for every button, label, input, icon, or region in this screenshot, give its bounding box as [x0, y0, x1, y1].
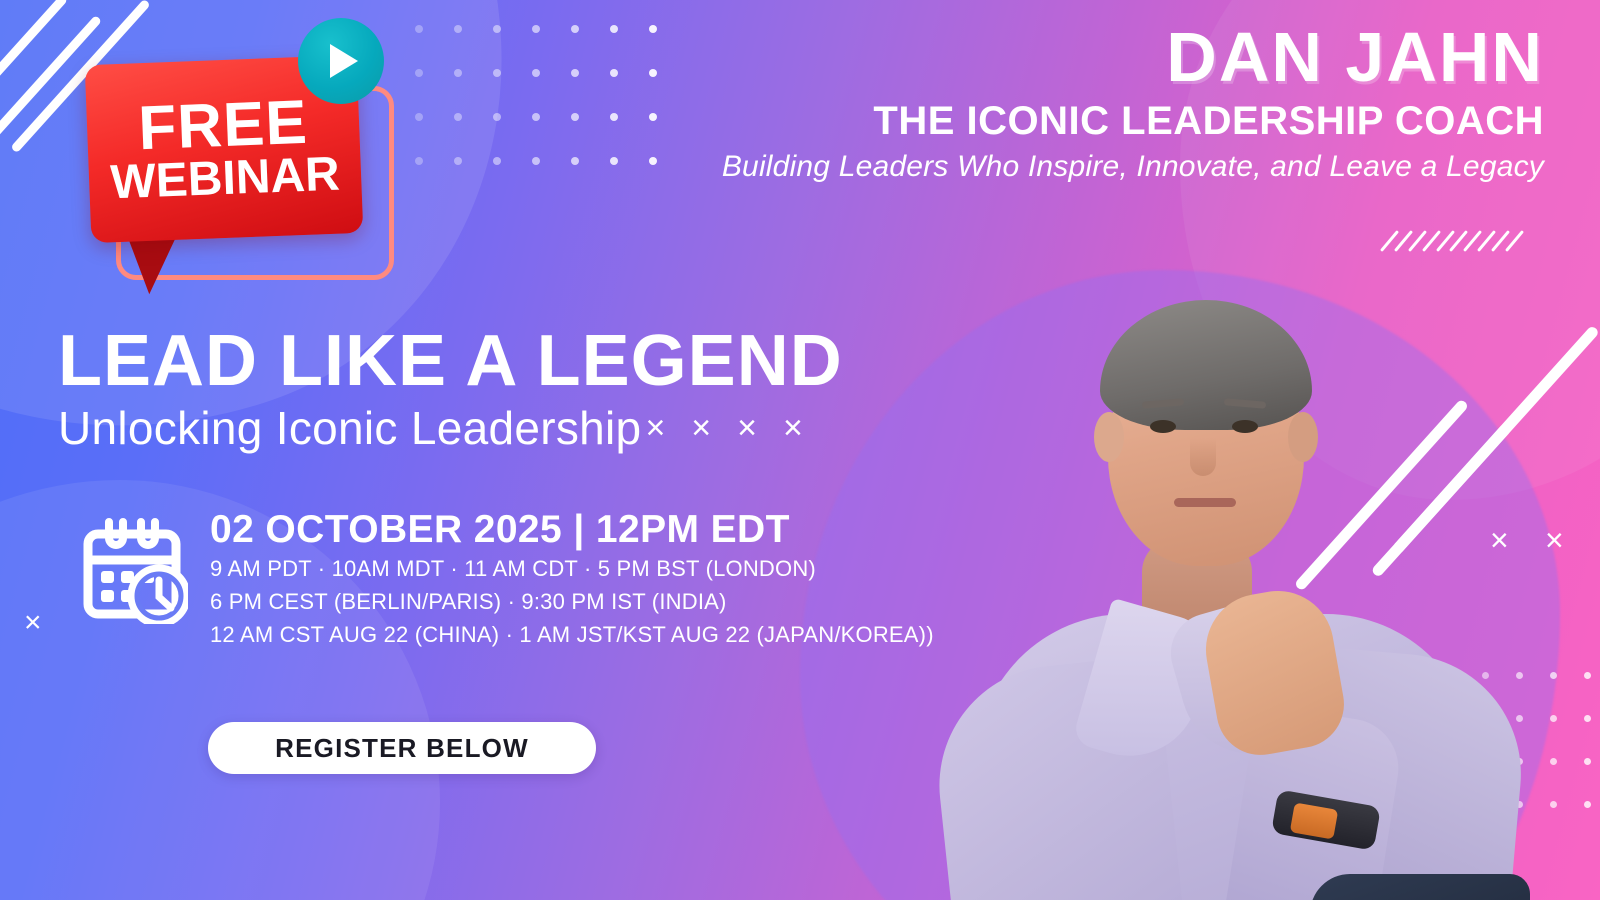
- page-subtitle: Unlocking Iconic Leadership: [58, 403, 641, 454]
- decorative-x-sub-1: ×: [645, 409, 665, 448]
- speaker-header: DAN JAHN THE ICONIC LEADERSHIP COACH Bui…: [722, 22, 1544, 184]
- decorative-x-left: ×: [24, 608, 42, 638]
- decorative-x-sub-3: ×: [737, 409, 757, 448]
- speaker-name: DAN JAHN: [722, 22, 1544, 92]
- decorative-x-sub-2: ×: [691, 409, 711, 448]
- timezone-line-3: 12 AM CST AUG 22 (CHINA) · 1 AM JST/KST …: [210, 619, 934, 650]
- decorative-dot-grid-top: [415, 25, 657, 165]
- speaker-role: THE ICONIC LEADERSHIP COACH: [722, 98, 1544, 144]
- badge-label-webinar: WEBINAR: [110, 151, 341, 206]
- register-button[interactable]: REGISTER BELOW: [208, 722, 596, 774]
- schedule-text: 02 OCTOBER 2025 | 12PM EDT 9 AM PDT · 10…: [210, 510, 934, 651]
- play-icon[interactable]: [298, 18, 384, 104]
- headline-group: LEAD LIKE A LEGEND Unlocking Iconic Lead…: [58, 325, 843, 454]
- speaker-tagline: Building Leaders Who Inspire, Innovate, …: [722, 150, 1544, 184]
- decorative-hatch-marks: [1388, 228, 1516, 254]
- subheadline-row: Unlocking Iconic Leadership × × × ×: [58, 403, 843, 454]
- decorative-x-sub-4: ×: [783, 409, 803, 448]
- schedule-block: 02 OCTOBER 2025 | 12PM EDT 9 AM PDT · 10…: [76, 510, 934, 651]
- play-triangle-icon: [330, 44, 358, 78]
- timezone-line-2: 6 PM CEST (BERLIN/PARIS) · 9:30 PM IST (…: [210, 586, 934, 617]
- page-title: LEAD LIKE A LEGEND: [58, 325, 843, 397]
- webinar-promo-banner: × × × FREE WEBINAR: [0, 0, 1600, 900]
- webinar-datetime: 02 OCTOBER 2025 | 12PM EDT: [210, 510, 934, 551]
- speaker-photo: [880, 262, 1580, 900]
- timezone-line-1: 9 AM PDT · 10AM MDT · 11 AM CDT · 5 PM B…: [210, 553, 934, 584]
- calendar-clock-icon: [76, 516, 188, 624]
